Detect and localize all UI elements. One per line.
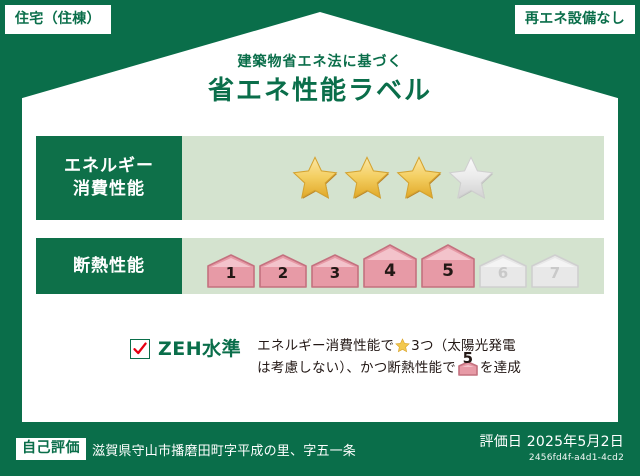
insulation-performance-label: 断熱性能 <box>36 238 182 294</box>
document-id: 2456fd4f-a4d1-4cd2 <box>480 453 625 465</box>
energy-performance-label: エネルギー 消費性能 <box>36 136 182 220</box>
grade-number: 4 <box>363 261 417 281</box>
inline-insulation-grade-badge: 5 <box>458 361 478 384</box>
grade-number: 5 <box>458 346 478 370</box>
insulation-performance-body: 1234567 <box>182 238 604 294</box>
zeh-desc-part1: エネルギー消費性能で <box>257 338 394 354</box>
insulation-grade-1: 1 <box>207 254 255 288</box>
insulation-grade-2: 2 <box>259 254 307 288</box>
footer-right-group: 評価日 2025年5月2日 2456fd4f-a4d1-4cd2 <box>480 434 625 464</box>
energy-performance-label-line1: エネルギー <box>64 155 154 178</box>
star-icon-filled <box>344 155 390 201</box>
star-icon <box>395 338 410 353</box>
renewable-equipment-tag: 再エネ設備なし <box>515 5 635 34</box>
zeh-checkbox <box>130 339 150 359</box>
property-address: 滋賀県守山市播磨田町字平成の里、字五一条 <box>92 440 480 459</box>
insulation-grade-6: 6 <box>479 254 527 288</box>
label-heading: 建築物省エネ法に基づく 省エネ性能ラベル <box>0 55 640 108</box>
insulation-grade-5: 5 <box>421 244 475 288</box>
energy-performance-row: エネルギー 消費性能 <box>36 136 604 220</box>
zeh-standard-block: ZEH水準 エネルギー消費性能で 3つ（太陽光発電 は考慮しない）、かつ断熱性能… <box>130 336 521 383</box>
zeh-desc-part4: を達成 <box>480 360 521 376</box>
check-mark-icon <box>132 341 148 357</box>
self-evaluation-badge: 自己評価 <box>16 438 86 459</box>
insulation-performance-row: 断熱性能 1234567 <box>36 238 604 294</box>
inline-grade-house-icon: 5 <box>458 361 478 376</box>
insulation-grade-3: 3 <box>311 254 359 288</box>
star-icon-empty <box>448 155 494 201</box>
energy-performance-label: 住宅（住棟） 再エネ設備なし 建築物省エネ法に基づく 省エネ性能ラベル エネルギ… <box>0 0 640 476</box>
energy-performance-body <box>182 136 604 220</box>
page-title: 省エネ性能ラベル <box>0 76 640 107</box>
insulation-performance-label-text: 断熱性能 <box>73 255 145 278</box>
label-footer: 自己評価 滋賀県守山市播磨田町字平成の里、字五一条 評価日 2025年5月2日 … <box>0 422 640 476</box>
grade-number: 7 <box>531 264 579 282</box>
star-rating <box>292 155 494 201</box>
star-icon-filled <box>396 155 442 201</box>
evaluation-date: 評価日 2025年5月2日 <box>480 434 625 451</box>
grade-number: 3 <box>311 264 359 282</box>
insulation-grade-scale: 1234567 <box>207 244 579 288</box>
zeh-desc-part3: は考慮しない）、かつ断熱性能で <box>257 360 456 376</box>
grade-number: 1 <box>207 264 255 282</box>
heading-subtitle: 建築物省エネ法に基づく <box>0 55 640 70</box>
building-type-tag: 住宅（住棟） <box>5 5 111 34</box>
energy-performance-label-line2: 消費性能 <box>73 178 145 201</box>
insulation-grade-4: 4 <box>363 244 417 288</box>
zeh-description: エネルギー消費性能で 3つ（太陽光発電 は考慮しない）、かつ断熱性能で5を達成 <box>257 336 521 383</box>
grade-number: 2 <box>259 264 307 282</box>
zeh-title: ZEH水準 <box>158 336 241 363</box>
star-icon-filled <box>292 155 338 201</box>
grade-number: 6 <box>479 264 527 282</box>
insulation-grade-7: 7 <box>531 254 579 288</box>
grade-number: 5 <box>421 261 475 281</box>
